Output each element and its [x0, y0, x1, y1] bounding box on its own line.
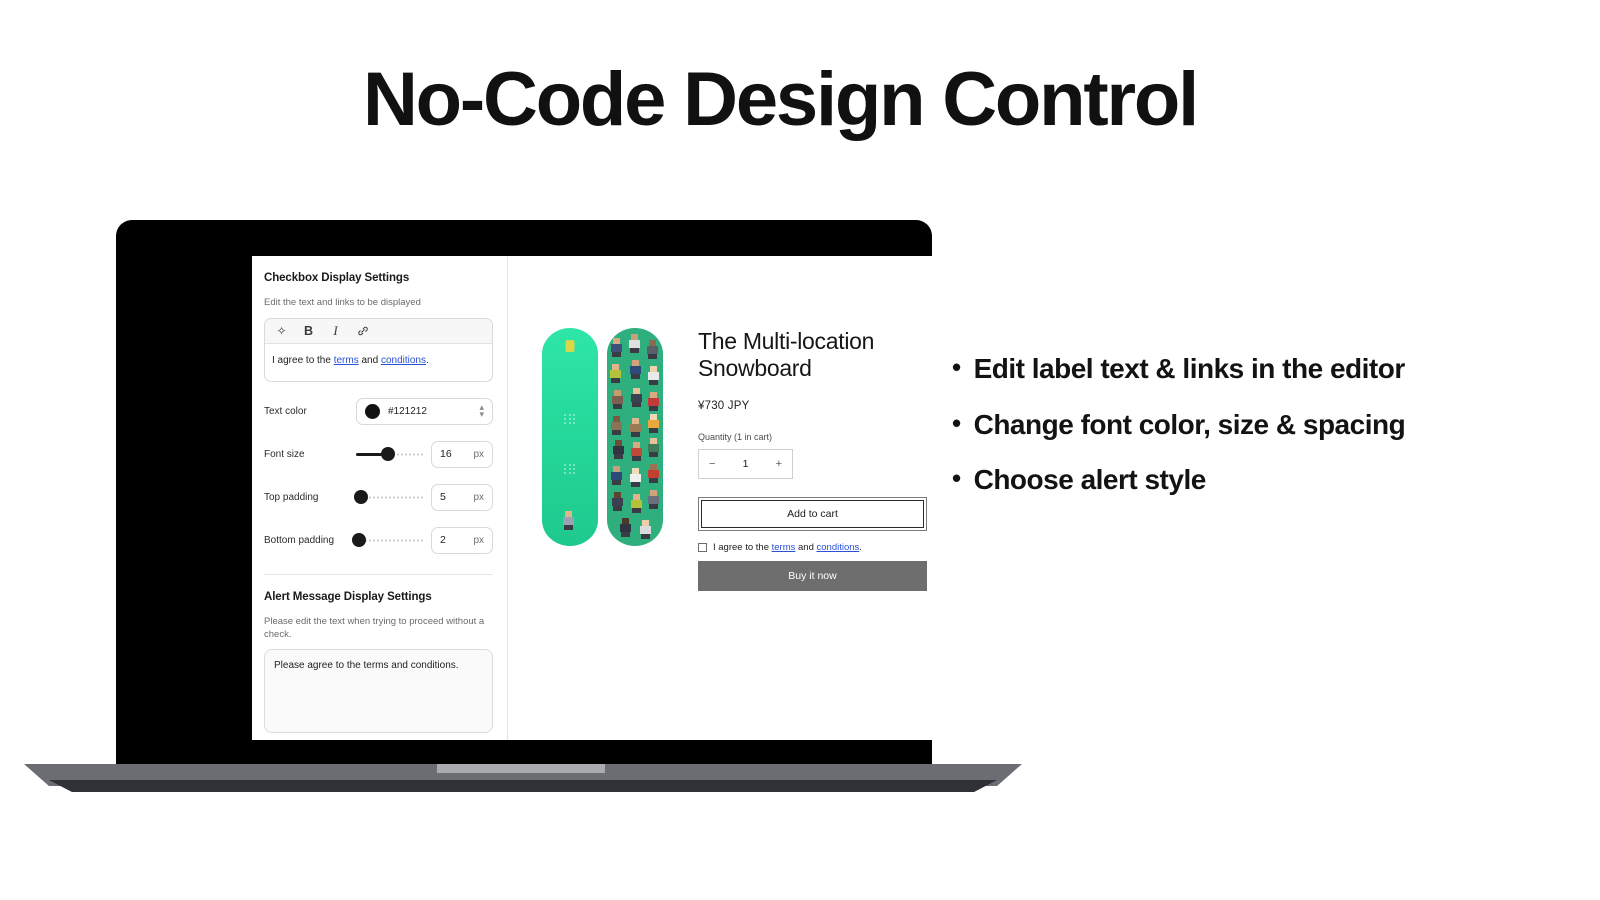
pixel-character-icon — [628, 334, 641, 353]
pixel-character-icon — [612, 440, 625, 459]
bottom-padding-slider[interactable] — [356, 530, 423, 550]
bullet-text: Choose alert style — [974, 463, 1206, 497]
control-row-top-padding: Top padding 5 px — [264, 484, 493, 511]
snowboard-image-pattern[interactable] — [607, 328, 663, 546]
alert-settings-help: Please edit the text when trying to proc… — [264, 616, 493, 642]
bullet-dot-icon: • — [952, 463, 961, 495]
quantity-decrement-button[interactable]: − — [709, 458, 715, 470]
pixel-character-icon — [647, 414, 660, 433]
pixel-character-icon — [619, 518, 632, 537]
rte-link-terms[interactable]: terms — [334, 355, 359, 366]
pixel-character-icon — [647, 438, 660, 457]
bullet-text: Change font color, size & spacing — [974, 408, 1406, 442]
quantity-increment-button[interactable]: + — [776, 458, 782, 470]
slider-track — [356, 539, 423, 542]
add-to-cart-focus-ring: Add to cart — [698, 497, 927, 531]
bold-icon[interactable]: B — [302, 324, 315, 338]
pixel-character-icon — [629, 360, 642, 379]
laptop-screen: Checkbox Display Settings Edit the text … — [252, 256, 1030, 740]
bottom-padding-label: Bottom padding — [264, 535, 356, 546]
text-color-input[interactable]: #121212 ▴▾ — [356, 398, 493, 425]
laptop-base-shadow — [24, 780, 1022, 792]
font-size-input[interactable]: 16 px — [431, 441, 493, 468]
terms-agreement-row: I agree to the terms and conditions. — [698, 542, 1030, 553]
terms-link[interactable]: terms — [772, 542, 796, 553]
quantity-stepper[interactable]: − 1 + — [698, 449, 793, 479]
top-padding-label: Top padding — [264, 492, 356, 503]
font-size-slider[interactable] — [356, 444, 423, 464]
pixel-character-icon — [630, 388, 643, 407]
rte-link-conditions[interactable]: conditions — [381, 355, 426, 366]
feature-bullet-list: • Edit label text & links in the editor … — [952, 352, 1552, 519]
color-swatch[interactable] — [365, 404, 380, 419]
rte-text-prefix: I agree to the — [272, 355, 334, 366]
pixel-character-icon — [610, 466, 623, 485]
control-row-font-size: Font size 16 px — [264, 441, 493, 468]
pixel-character-icon — [629, 418, 642, 437]
bullet-dot-icon: • — [952, 408, 961, 440]
terms-prefix: I agree to the — [713, 542, 772, 553]
rich-text-content[interactable]: I agree to the terms and conditions. — [265, 344, 492, 381]
bottom-padding-value: 2 — [440, 534, 473, 546]
top-padding-value: 5 — [440, 491, 473, 503]
slider-handle[interactable] — [354, 490, 368, 504]
bottom-padding-input[interactable]: 2 px — [431, 527, 493, 554]
terms-checkbox[interactable] — [698, 543, 707, 552]
settings-panel: Checkbox Display Settings Edit the text … — [252, 256, 508, 740]
conditions-link[interactable]: conditions — [817, 542, 860, 553]
bullet-text: Edit label text & links in the editor — [974, 352, 1405, 386]
pixel-character-icon — [611, 390, 624, 409]
bottom-padding-unit: px — [473, 535, 484, 546]
control-row-text-color: Text color #121212 ▴▾ — [264, 398, 493, 425]
bullet-dot-icon: • — [952, 352, 961, 384]
pixel-character-icon — [647, 490, 660, 509]
top-padding-slider[interactable] — [356, 487, 423, 507]
link-icon[interactable] — [356, 324, 369, 338]
terms-middle: and — [795, 542, 816, 553]
italic-icon[interactable]: I — [329, 324, 342, 338]
page-title: No-Code Design Control — [0, 62, 1560, 138]
pixel-character-icon — [630, 442, 643, 461]
rte-text-suffix: . — [426, 355, 429, 366]
slider-handle[interactable] — [352, 533, 366, 547]
laptop-base-notch — [437, 764, 605, 773]
pixel-character-icon — [609, 364, 622, 383]
pixel-character-icon — [639, 520, 652, 539]
section-divider — [264, 574, 493, 575]
text-color-value: #121212 — [388, 406, 471, 417]
board-tag-icon — [566, 340, 575, 352]
pixel-character-icon — [611, 492, 624, 511]
checkbox-settings-help: Edit the text and links to be displayed — [264, 297, 493, 310]
pixel-character-icon — [647, 366, 660, 385]
control-row-bottom-padding: Bottom padding 2 px — [264, 527, 493, 554]
laptop-mockup: Checkbox Display Settings Edit the text … — [0, 220, 1060, 790]
pixel-character-icon — [610, 338, 623, 357]
slider-handle[interactable] — [381, 447, 395, 461]
font-size-label: Font size — [264, 449, 356, 460]
board-dot-grid — [564, 464, 576, 474]
product-title: The Multi-location Snowboard — [698, 328, 933, 382]
board-dot-grid — [564, 414, 576, 424]
text-color-label: Text color — [264, 406, 356, 417]
pixel-character-icon — [629, 468, 642, 487]
product-gallery — [542, 328, 670, 740]
magic-icon[interactable]: ✧ — [275, 324, 288, 338]
alert-message-textarea[interactable]: Please agree to the terms and conditions… — [264, 649, 493, 733]
terms-suffix: . — [859, 542, 862, 553]
font-size-unit: px — [473, 449, 484, 460]
top-padding-unit: px — [473, 492, 484, 503]
add-to-cart-button[interactable]: Add to cart — [701, 500, 924, 528]
terms-label: I agree to the terms and conditions. — [713, 542, 862, 553]
rte-text-middle: and — [359, 355, 381, 366]
rich-text-editor[interactable]: ✧ B I I agr — [264, 318, 493, 382]
snowboard-image-primary[interactable] — [542, 328, 598, 546]
alert-settings-heading: Alert Message Display Settings — [264, 591, 493, 603]
checkbox-settings-heading: Checkbox Display Settings — [264, 272, 493, 284]
list-item: • Edit label text & links in the editor — [952, 352, 1552, 386]
list-item: • Change font color, size & spacing — [952, 408, 1552, 442]
pixel-character-icon — [562, 511, 575, 530]
slide-root: No-Code Design Control Checkbox Display … — [0, 0, 1600, 900]
pixel-character-icon — [647, 392, 660, 411]
pixel-character-icon — [630, 494, 643, 513]
buy-it-now-button[interactable]: Buy it now — [698, 561, 927, 591]
rich-text-toolbar: ✧ B I — [265, 319, 492, 344]
list-item: • Choose alert style — [952, 463, 1552, 497]
laptop-lid: Checkbox Display Settings Edit the text … — [116, 220, 932, 772]
pixel-character-icon — [647, 464, 660, 483]
pixel-character-icon — [646, 340, 659, 359]
pixel-character-icon — [610, 416, 623, 435]
font-size-value: 16 — [440, 448, 473, 460]
top-padding-input[interactable]: 5 px — [431, 484, 493, 511]
quantity-value[interactable]: 1 — [743, 458, 749, 470]
chevron-updown-icon[interactable]: ▴▾ — [479, 404, 484, 419]
